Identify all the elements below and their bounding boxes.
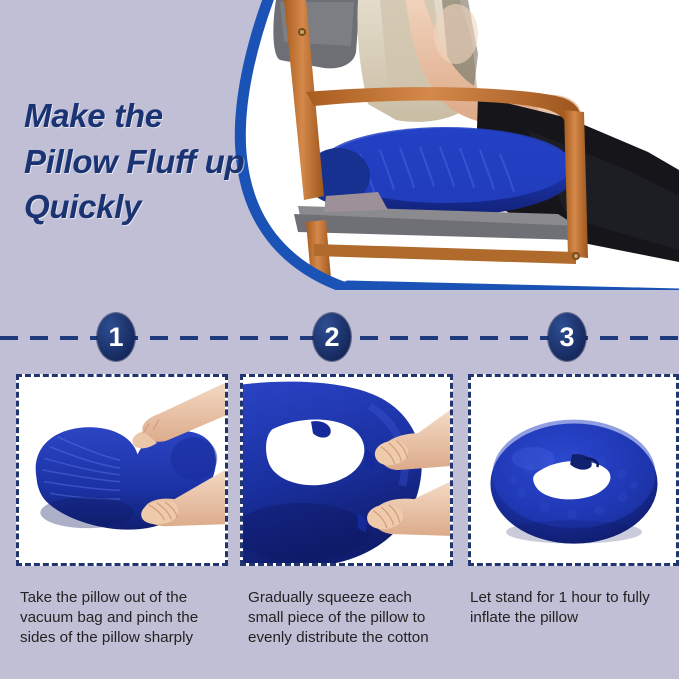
step-caption-3: Let stand for 1 hour to fully inflate th… (470, 588, 666, 628)
step-image-panel-2 (240, 374, 453, 566)
step-badge-1: 1 (97, 313, 135, 361)
step-caption-2: Gradually squeeze each small piece of th… (248, 588, 448, 649)
step-badge-2: 2 (313, 313, 351, 361)
step-badge-3: 3 (548, 313, 586, 361)
hero-photo-container (228, 0, 679, 290)
step-3-illustration (471, 377, 676, 563)
step-image-panel-1 (16, 374, 228, 566)
step-image-panel-3 (468, 374, 679, 566)
page-title: Make the Pillow Fluff up Quickly (24, 93, 264, 230)
infographic-root: Make the Pillow Fluff up Quickly 1 2 3 (0, 0, 679, 679)
step-2-illustration (243, 377, 450, 563)
hero-image-sitting-on-pillow (228, 0, 679, 290)
step-1-illustration (19, 377, 225, 563)
step-caption-1: Take the pillow out of the vacuum bag an… (20, 588, 224, 649)
